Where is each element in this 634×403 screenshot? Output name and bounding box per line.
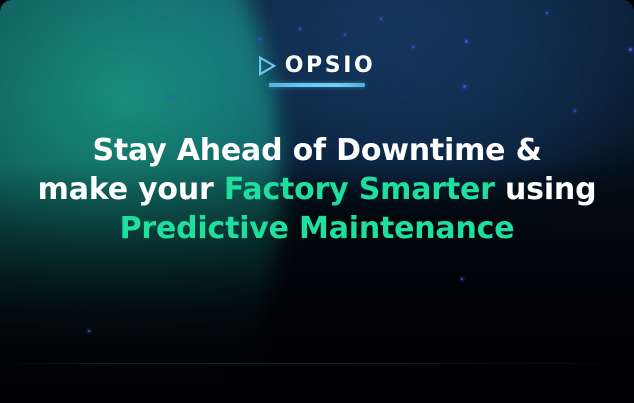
headline-line-2: make your Factory Smarter using bbox=[27, 170, 607, 209]
headline-line-2-accent: Factory Smarter bbox=[224, 172, 495, 207]
headline-line-1-text: Stay Ahead of Downtime & bbox=[92, 133, 541, 168]
brand-wordmark: OPSIO bbox=[285, 55, 377, 77]
hero-banner: OPSIO Stay Ahead of Downtime & make your… bbox=[0, 0, 634, 403]
hero-content: OPSIO Stay Ahead of Downtime & make your… bbox=[0, 0, 634, 403]
brand-logo-row: OPSIO bbox=[258, 55, 377, 77]
hero-headline: Stay Ahead of Downtime & make your Facto… bbox=[27, 131, 607, 248]
headline-line-2-suffix: using bbox=[495, 172, 597, 207]
brand-underline bbox=[269, 83, 365, 87]
headline-line-3: Predictive Maintenance bbox=[27, 209, 607, 248]
headline-line-2-prefix: make your bbox=[38, 172, 224, 207]
play-triangle-icon bbox=[258, 56, 276, 76]
headline-line-1: Stay Ahead of Downtime & bbox=[27, 131, 607, 170]
brand-logo[interactable]: OPSIO bbox=[258, 55, 377, 87]
headline-line-3-accent: Predictive Maintenance bbox=[120, 211, 515, 246]
